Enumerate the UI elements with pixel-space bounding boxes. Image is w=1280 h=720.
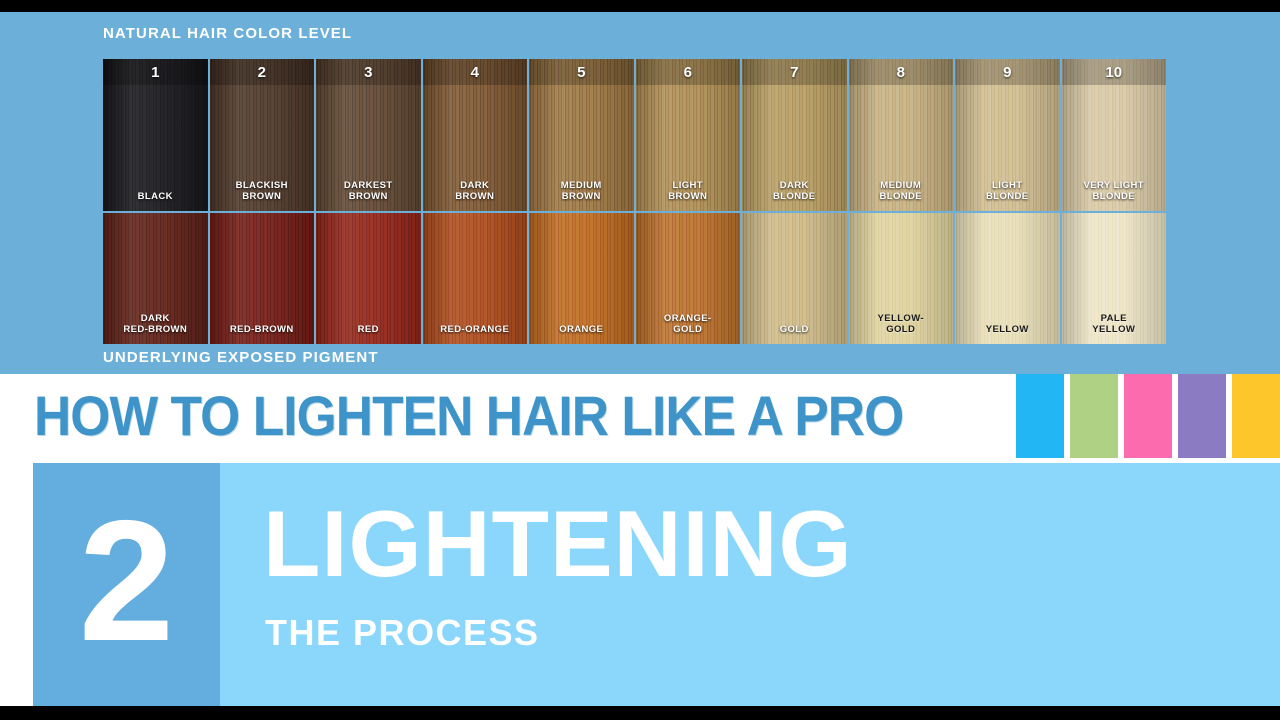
section-title: LIGHTENING xyxy=(263,494,853,594)
natural-level-row: 1BLACK2BLACKISHBROWN3DARKESTBROWN4DARKBR… xyxy=(103,59,1166,211)
level-number: 1 xyxy=(151,64,159,81)
underlying-pigment-swatch: RED-ORANGE xyxy=(423,213,528,344)
underlying-pigment-label: YELLOW-GOLD xyxy=(849,313,954,335)
level-number-bar: 10 xyxy=(1062,59,1167,85)
natural-level-swatch: 10VERY LIGHTBLONDE xyxy=(1062,59,1167,211)
chip-pink xyxy=(1124,374,1172,458)
underlying-pigment-swatch: PALEYELLOW xyxy=(1062,213,1167,344)
underlying-pigment-label: PALEYELLOW xyxy=(1062,313,1167,335)
level-number-bar: 4 xyxy=(423,59,528,85)
underlying-pigment-swatch: YELLOW xyxy=(955,213,1060,344)
underlying-pigment-row: DARKRED-BROWNRED-BROWNREDRED-ORANGEORANG… xyxy=(103,213,1166,344)
chart-footing: UNDERLYING EXPOSED PIGMENT xyxy=(103,349,379,366)
natural-level-label: DARKBROWN xyxy=(423,180,528,202)
underlying-pigment-swatch: RED-BROWN xyxy=(210,213,315,344)
slide-stage: NATURAL HAIR COLOR LEVEL 1BLACK2BLACKISH… xyxy=(0,0,1280,720)
underlying-pigment-swatch: YELLOW-GOLD xyxy=(849,213,954,344)
natural-level-swatch: 9LIGHTBLONDE xyxy=(955,59,1060,211)
natural-level-swatch: 4DARKBROWN xyxy=(423,59,528,211)
level-number-bar: 8 xyxy=(849,59,954,85)
natural-level-swatch: 1BLACK xyxy=(103,59,208,211)
level-number: 9 xyxy=(1003,64,1011,81)
level-number: 7 xyxy=(790,64,798,81)
natural-level-swatch: 2BLACKISHBROWN xyxy=(210,59,315,211)
level-number-bar: 9 xyxy=(955,59,1060,85)
natural-level-label: MEDIUMBROWN xyxy=(529,180,634,202)
underlying-pigment-label: ORANGE-GOLD xyxy=(636,313,741,335)
natural-level-swatch: 5MEDIUMBROWN xyxy=(529,59,634,211)
natural-level-label: LIGHTBLONDE xyxy=(955,180,1060,202)
section-intro: 2 LIGHTENING THE PROCESS xyxy=(0,458,1280,706)
letterbox-top-bar xyxy=(0,0,1280,12)
underlying-pigment-label: RED-BROWN xyxy=(210,324,315,335)
level-number: 6 xyxy=(684,64,692,81)
level-number-bar: 3 xyxy=(316,59,421,85)
underlying-pigment-label: RED xyxy=(316,324,421,335)
underlying-pigment-label: DARKRED-BROWN xyxy=(103,313,208,335)
chip-purple xyxy=(1178,374,1226,458)
hair-color-chart-section: NATURAL HAIR COLOR LEVEL 1BLACK2BLACKISH… xyxy=(0,12,1280,374)
color-chip-strip xyxy=(1016,374,1280,458)
section-subtitle: THE PROCESS xyxy=(265,613,540,653)
level-number: 3 xyxy=(364,64,372,81)
level-number: 4 xyxy=(471,64,479,81)
level-number-bar: 1 xyxy=(103,59,208,85)
underlying-pigment-swatch: ORANGE xyxy=(529,213,634,344)
chip-blue xyxy=(1016,374,1064,458)
natural-level-swatch: 7DARKBLONDE xyxy=(742,59,847,211)
natural-level-label: BLACK xyxy=(103,191,208,202)
level-number: 8 xyxy=(897,64,905,81)
natural-level-label: LIGHTBROWN xyxy=(636,180,741,202)
underlying-pigment-label: GOLD xyxy=(742,324,847,335)
natural-level-label: BLACKISHBROWN xyxy=(210,180,315,202)
page-title: HOW TO LIGHTEN HAIR LIKE A PRO xyxy=(34,380,903,452)
level-number-bar: 7 xyxy=(742,59,847,85)
natural-level-swatch: 8MEDIUMBLONDE xyxy=(849,59,954,211)
natural-level-swatch: 3DARKESTBROWN xyxy=(316,59,421,211)
level-number-bar: 5 xyxy=(529,59,634,85)
section-number: 2 xyxy=(33,495,220,667)
underlying-pigment-label: ORANGE xyxy=(529,324,634,335)
underlying-pigment-label: YELLOW xyxy=(955,324,1060,335)
hair-color-chart: 1BLACK2BLACKISHBROWN3DARKESTBROWN4DARKBR… xyxy=(103,59,1166,344)
level-number: 5 xyxy=(577,64,585,81)
underlying-pigment-swatch: ORANGE-GOLD xyxy=(636,213,741,344)
natural-level-label: VERY LIGHTBLONDE xyxy=(1062,180,1167,202)
level-number-bar: 2 xyxy=(210,59,315,85)
natural-level-label: MEDIUMBLONDE xyxy=(849,180,954,202)
level-number: 10 xyxy=(1105,64,1122,81)
natural-level-swatch: 6LIGHTBROWN xyxy=(636,59,741,211)
underlying-pigment-swatch: DARKRED-BROWN xyxy=(103,213,208,344)
section-number-box: 2 xyxy=(33,463,220,706)
natural-level-label: DARKBLONDE xyxy=(742,180,847,202)
natural-level-label: DARKESTBROWN xyxy=(316,180,421,202)
title-banner: HOW TO LIGHTEN HAIR LIKE A PRO xyxy=(0,374,1280,458)
level-number-bar: 6 xyxy=(636,59,741,85)
underlying-pigment-swatch: GOLD xyxy=(742,213,847,344)
underlying-pigment-swatch: RED xyxy=(316,213,421,344)
chart-heading: NATURAL HAIR COLOR LEVEL xyxy=(103,25,352,42)
chip-yellow xyxy=(1232,374,1280,458)
letterbox-bottom-bar xyxy=(0,706,1280,720)
chip-green xyxy=(1070,374,1118,458)
underlying-pigment-label: RED-ORANGE xyxy=(423,324,528,335)
level-number: 2 xyxy=(258,64,266,81)
